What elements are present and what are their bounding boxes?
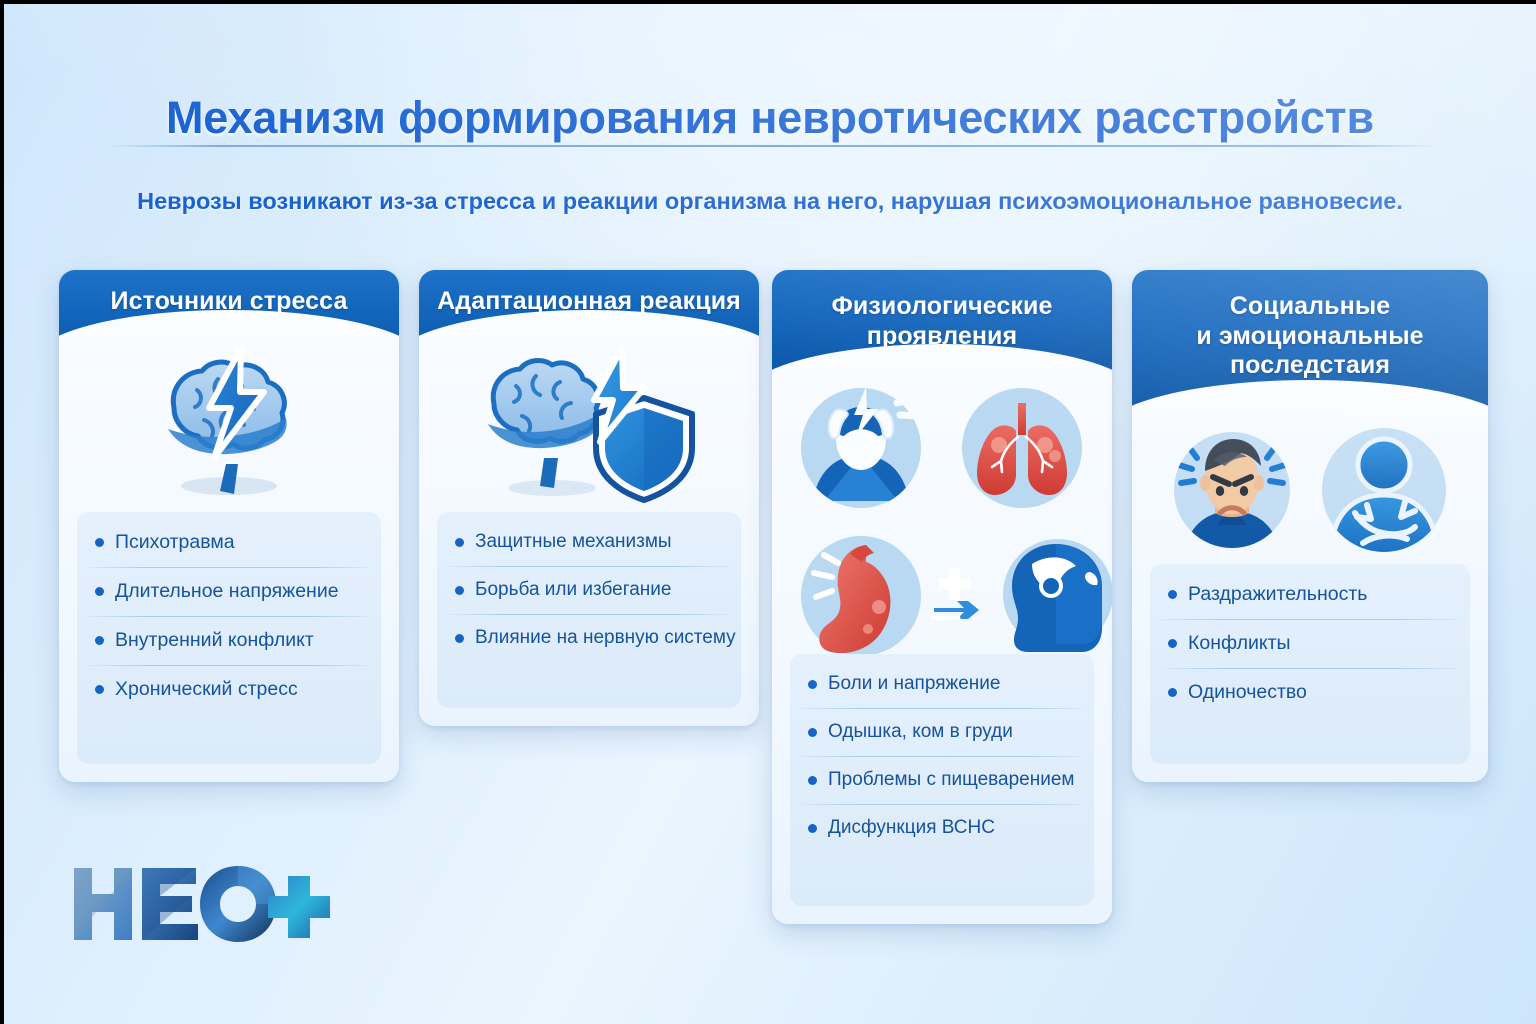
list-item-label: Длительное напряжение [115, 580, 339, 603]
list-item-label: Хронический стресс [115, 678, 298, 701]
list-item-label: Защитные механизмы [475, 531, 672, 553]
list-item-label: Психотравма [115, 531, 235, 554]
list-item-label: Одиночество [1188, 681, 1307, 704]
list-item-label: Раздражительность [1188, 583, 1367, 606]
card-list: Раздражительность Конфликты Одиночество [1150, 564, 1470, 764]
bullet-icon [95, 636, 104, 645]
lungs-icon [955, 381, 1089, 515]
list-item[interactable]: Одышка, ком в груди [790, 708, 1094, 756]
list-item[interactable]: Дисфункция ВСНС [790, 804, 1094, 852]
card-list: Психотравма Длительное напряжение Внутре… [77, 512, 381, 764]
bullet-icon [455, 586, 464, 595]
list-item[interactable]: Проблемы с пищеварением [790, 756, 1094, 804]
list-item-label: Проблемы с пищеварением [828, 769, 1074, 791]
card-header: Адаптационная реакция [419, 270, 759, 336]
list-item[interactable]: Конфликты [1150, 619, 1470, 668]
list-item[interactable]: Внутренний конфликт [77, 616, 381, 665]
title-divider [108, 145, 1438, 147]
lonely-person-icon [1315, 421, 1453, 559]
card-adaptive-reaction[interactable]: Адаптационная реакция [419, 270, 759, 726]
list-item-label: Боли и напряжение [828, 673, 1000, 695]
card-illustration [1132, 406, 1488, 574]
bullet-icon [95, 685, 104, 694]
brain-lightning-icon [134, 346, 324, 506]
list-item-label: Борьба или избегание [475, 579, 672, 601]
list-item[interactable]: Раздражительность [1150, 570, 1470, 619]
card-header: Источники стресса [59, 270, 399, 336]
card-title-line-1: Физиологические [831, 292, 1052, 320]
bullet-icon [808, 776, 817, 785]
bullet-icon [808, 824, 817, 833]
card-social-emotional-consequences[interactable]: Социальные и эмоциональные последстаия [1132, 270, 1488, 782]
page-subtitle: Неврозы возникают из-за стресса и реакци… [4, 188, 1536, 215]
stomach-icon [794, 529, 928, 663]
list-item-label: Внутренний конфликт [115, 629, 314, 652]
list-item[interactable]: Хронический стресс [77, 665, 381, 714]
list-item[interactable]: Одиночество [1150, 668, 1470, 717]
bullet-icon [1168, 590, 1177, 599]
bullet-icon [95, 587, 104, 596]
bullet-icon [1168, 639, 1177, 648]
list-item-label: Дисфункция ВСНС [828, 817, 995, 839]
bullet-icon [1168, 688, 1177, 697]
bullet-icon [808, 680, 817, 689]
list-item[interactable]: Психотравма [77, 518, 381, 567]
card-list: Боли и напряжение Одышка, ком в груди Пр… [790, 654, 1094, 906]
card-illustration [59, 336, 399, 516]
list-item-label: Конфликты [1188, 632, 1291, 655]
card-list: Защитные механизмы Борьба или избегание … [437, 512, 741, 708]
headache-person-icon [794, 381, 928, 515]
card-header: Социальные и эмоциональные последстаия [1132, 270, 1488, 406]
neo-plus-logo-icon [72, 862, 332, 946]
bullet-icon [455, 538, 464, 547]
brain-shield-lightning-icon [474, 346, 704, 506]
bullet-icon [808, 728, 817, 737]
page-title: Механизм формирования невротических расс… [4, 92, 1536, 144]
list-item-label: Влияние на нервную систему [475, 627, 736, 649]
list-item[interactable]: Влияние на нервную систему [437, 614, 741, 662]
card-title-line-2: и эмоциональные [1196, 322, 1423, 350]
list-item[interactable]: Длительное напряжение [77, 567, 381, 616]
angry-face-icon [1167, 425, 1297, 555]
card-sources-of-stress[interactable]: Источники стресса [59, 270, 399, 782]
head-brain-icon [996, 536, 1112, 656]
bullet-icon [455, 634, 464, 643]
transition-arrow-icon [928, 566, 988, 626]
card-illustration [772, 370, 1112, 670]
list-item[interactable]: Защитные механизмы [437, 518, 741, 566]
card-title-line-1: Социальные [1230, 292, 1391, 320]
brand-logo[interactable] [72, 862, 332, 946]
card-header: Физиологические проявления [772, 270, 1112, 370]
card-physiological-manifestations[interactable]: Физиологические проявления [772, 270, 1112, 924]
list-item-label: Одышка, ком в груди [828, 721, 1013, 743]
infographic-canvas: Механизм формирования невротических расс… [0, 0, 1536, 1024]
card-illustration [419, 336, 759, 516]
list-item[interactable]: Борьба или избегание [437, 566, 741, 614]
list-item[interactable]: Боли и напряжение [790, 660, 1094, 708]
card-title-line-3: последстаия [1230, 351, 1390, 379]
bullet-icon [95, 538, 104, 547]
